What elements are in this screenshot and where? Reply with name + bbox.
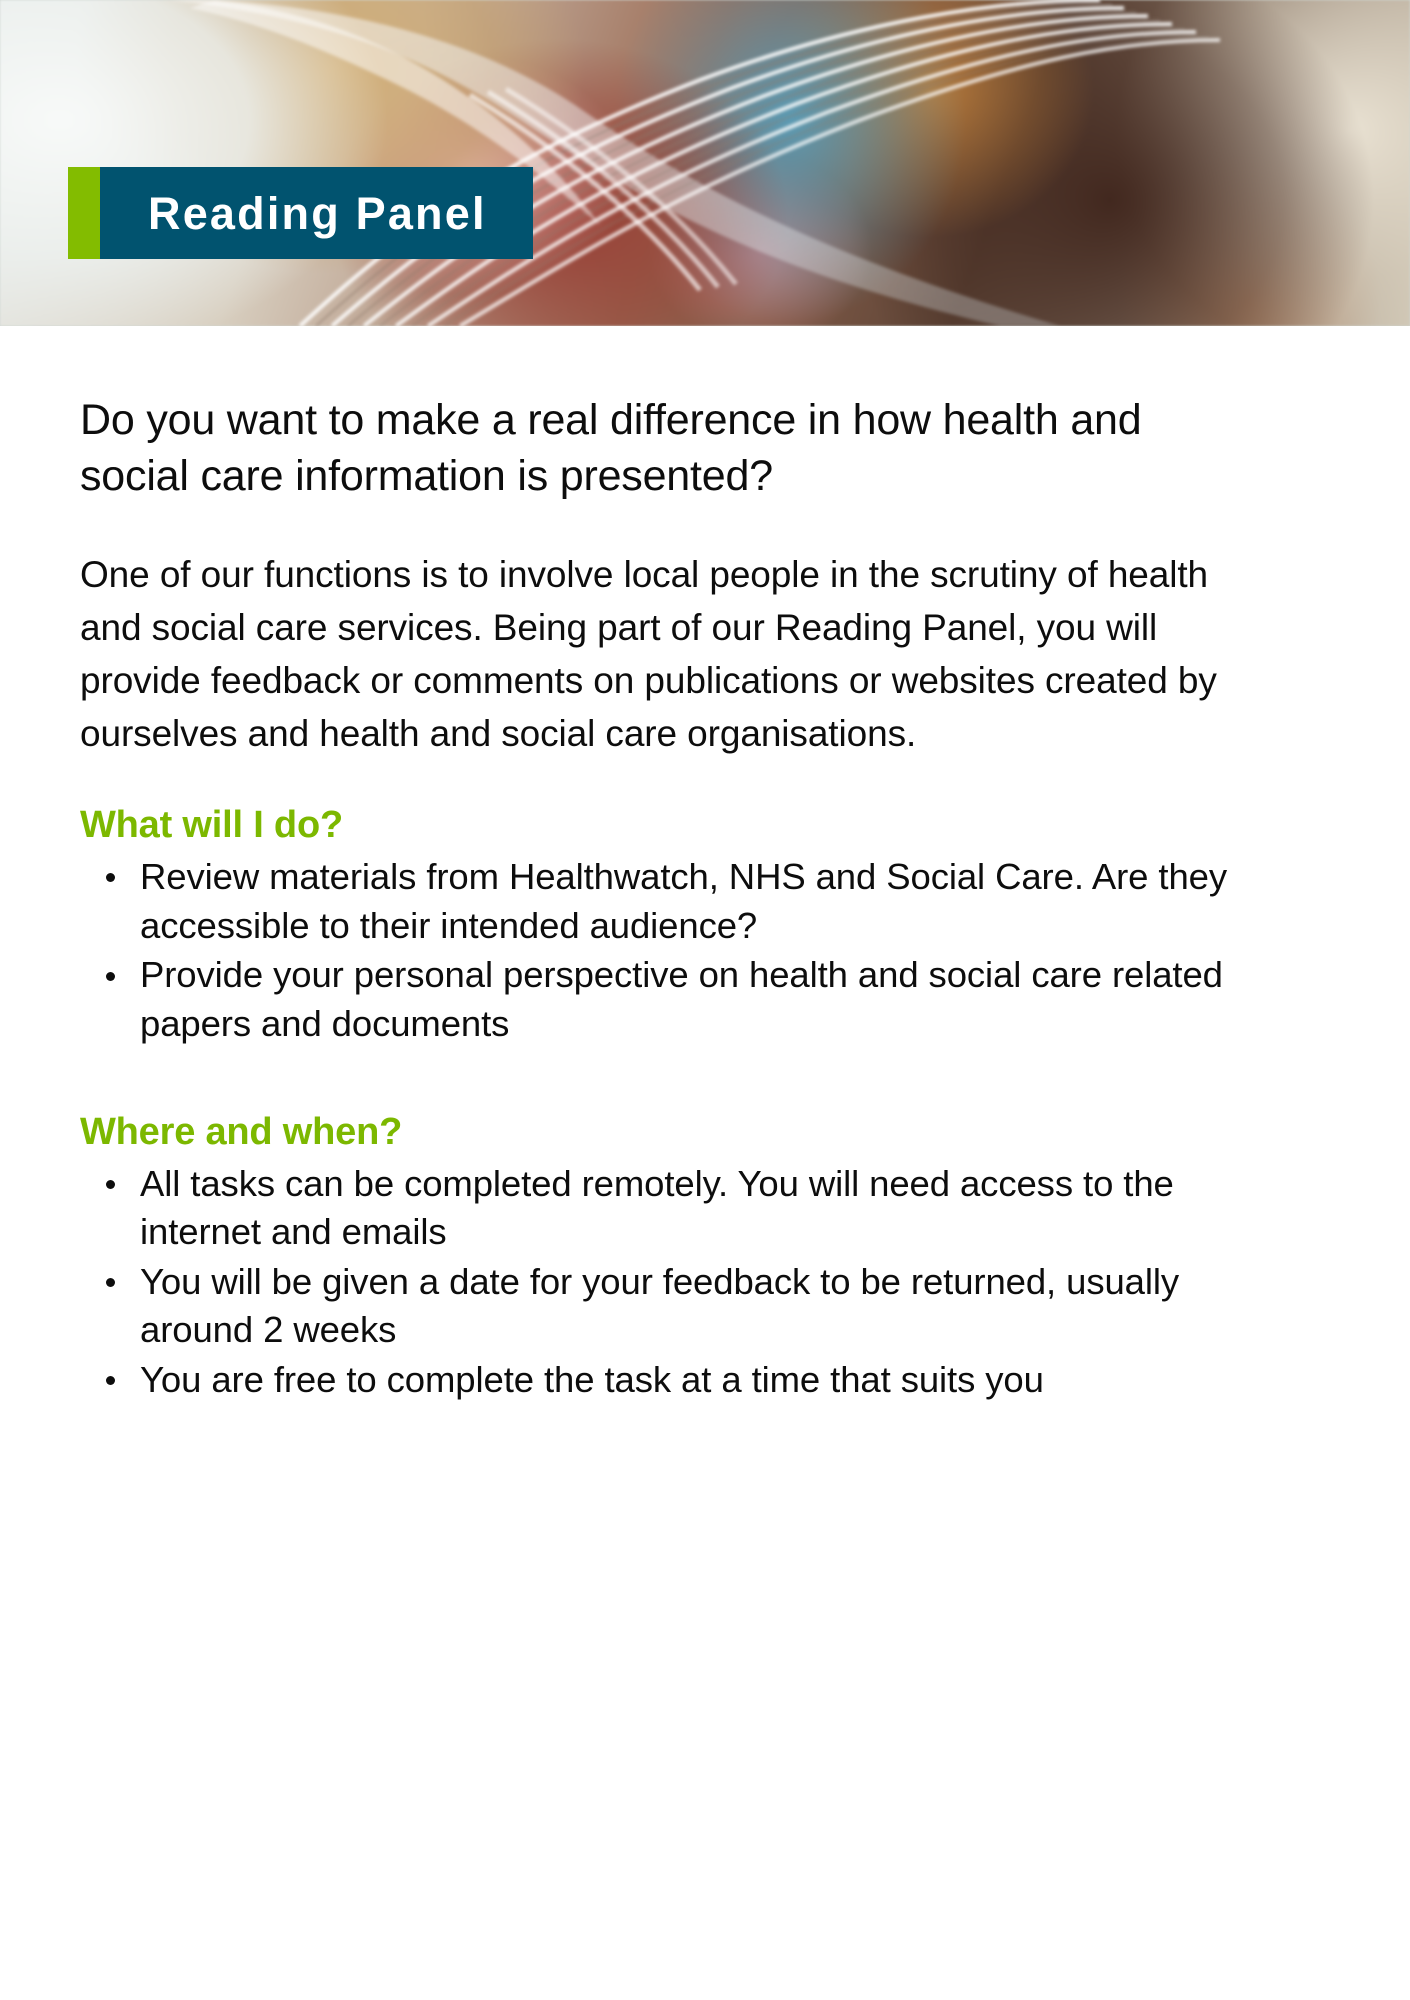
list-item: Provide your personal perspective on hea… (80, 951, 1260, 1048)
bullet-dot-icon (106, 972, 115, 981)
list-item: You are free to complete the task at a t… (80, 1356, 1260, 1405)
bullet-dot-icon (106, 1376, 115, 1385)
bullet-dot-icon (106, 873, 115, 882)
section-what-will-i-do: What will I do? Review materials from He… (80, 804, 1330, 1048)
list-item-text: You will be given a date for your feedba… (140, 1261, 1179, 1351)
list-item: All tasks can be completed remotely. You… (80, 1160, 1260, 1257)
magazine-photo (0, 0, 1410, 326)
intro-paragraph: One of our functions is to involve local… (80, 549, 1255, 761)
hero-header: Reading Panel (0, 0, 1410, 326)
list-item-text: You are free to complete the task at a t… (140, 1359, 1044, 1400)
title-plaque: Reading Panel (68, 167, 533, 259)
bullet-dot-icon (106, 1180, 115, 1189)
title-box: Reading Panel (100, 167, 533, 259)
section-where-and-when: Where and when? All tasks can be complet… (80, 1111, 1330, 1405)
list-item: Review materials from Healthwatch, NHS a… (80, 853, 1260, 950)
list-item-text: Review materials from Healthwatch, NHS a… (140, 856, 1227, 946)
list-item: You will be given a date for your feedba… (80, 1258, 1260, 1355)
section-heading-where-and-when: Where and when? (80, 1111, 1330, 1154)
bullet-list-what-will-i-do: Review materials from Healthwatch, NHS a… (80, 853, 1330, 1048)
section-heading-what-will-i-do: What will I do? (80, 804, 1330, 847)
bullet-list-where-and-when: All tasks can be completed remotely. You… (80, 1160, 1330, 1405)
title-accent-bar (68, 167, 100, 259)
list-item-text: All tasks can be completed remotely. You… (140, 1163, 1174, 1253)
page-title: Reading Panel (148, 191, 487, 236)
list-item-text: Provide your personal perspective on hea… (140, 954, 1223, 1044)
lead-question: Do you want to make a real difference in… (80, 393, 1260, 505)
bullet-dot-icon (106, 1278, 115, 1287)
content-area: Do you want to make a real difference in… (0, 326, 1410, 1405)
